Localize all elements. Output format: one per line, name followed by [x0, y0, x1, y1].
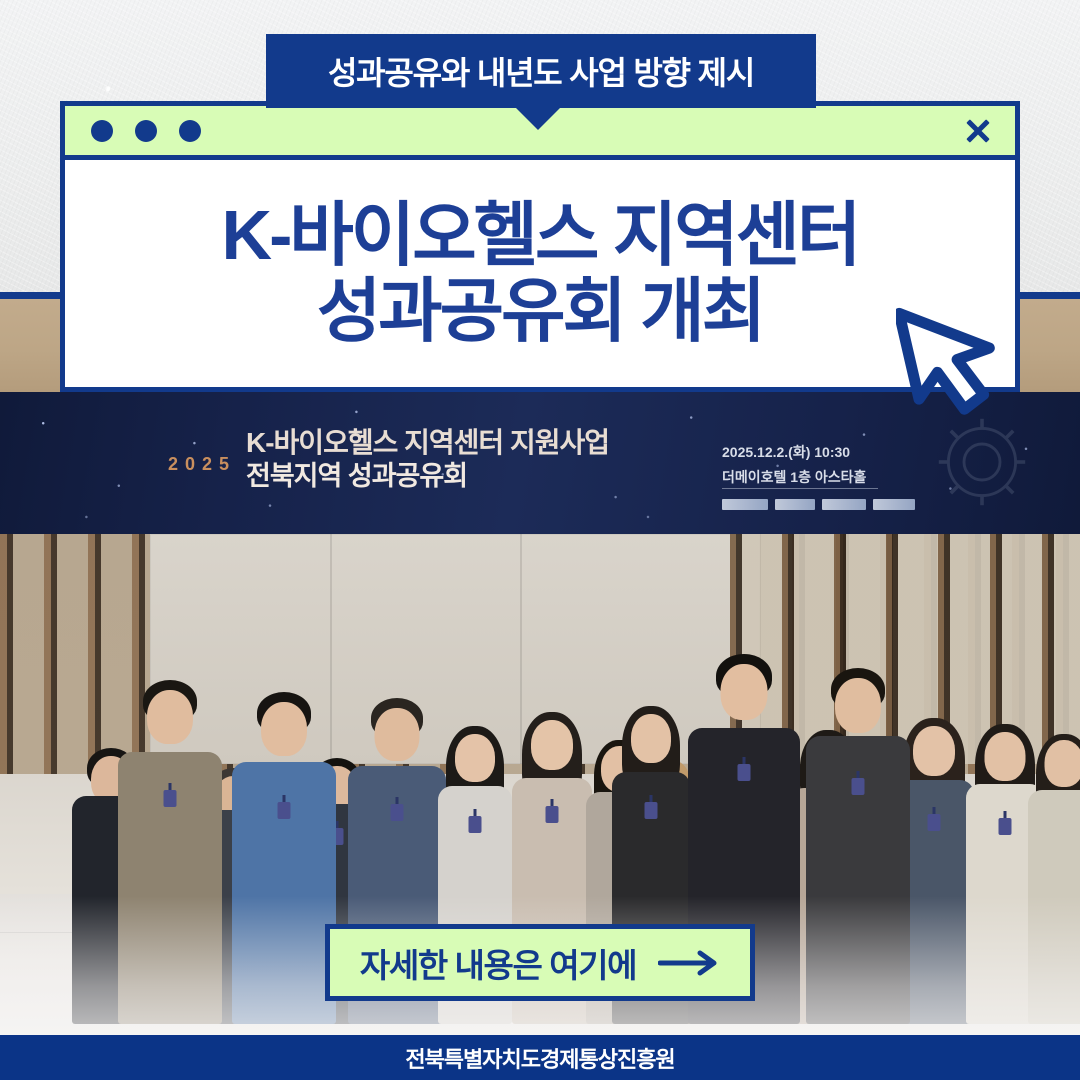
- banner-datetime: 2025.12.2.(화) 10:30: [722, 440, 866, 465]
- cta-label: 자세한 내용은 여기에: [360, 939, 636, 987]
- banner-venue: 더메이호텔 1층 아스타홀: [722, 465, 866, 490]
- sponsor-logo: [822, 499, 866, 510]
- window-dot-icon[interactable]: [91, 120, 113, 142]
- browser-window-card: K-바이오헬스 지역센터 성과공유회 개최: [60, 101, 1020, 392]
- window-content: K-바이오헬스 지역센터 성과공유회 개최: [65, 160, 1015, 392]
- window-traffic-lights: [91, 120, 201, 142]
- headline-line-1: K-바이오헬스 지역센터: [222, 198, 859, 272]
- banner-title-line1: K-바이오헬스 지역센터 지원사업: [246, 426, 609, 460]
- sponsor-logo: [775, 499, 815, 510]
- footer-bar: 전북특별자치도경제통상진흥원: [0, 1035, 1080, 1080]
- ribbon-label: 성과공유와 내년도 사업 방향 제시: [328, 48, 754, 94]
- promo-card-canvas: 2025 K-바이오헬스 지역센터 지원사업 전북지역 성과공유회 2025.1…: [0, 0, 1080, 1080]
- banner-divider: [722, 488, 878, 489]
- sponsor-logo: [873, 499, 915, 510]
- footer-organization-name: 전북특별자치도경제통상진흥원: [405, 1042, 674, 1074]
- window-dot-icon[interactable]: [179, 120, 201, 142]
- banner-sponsor-logos: [722, 496, 918, 512]
- ribbon-pointer-triangle: [516, 108, 560, 130]
- banner-year: 2025: [168, 454, 236, 475]
- top-ribbon-banner: 성과공유와 내년도 사업 방향 제시: [266, 34, 816, 108]
- sponsor-logo: [722, 499, 768, 510]
- close-icon[interactable]: [963, 116, 993, 146]
- banner-title-line2: 전북지역 성과공유회: [246, 460, 609, 493]
- banner-title: K-바이오헬스 지역센터 지원사업 전북지역 성과공유회: [246, 426, 609, 493]
- learn-more-button[interactable]: 자세한 내용은 여기에: [325, 924, 755, 1001]
- window-dot-icon[interactable]: [135, 120, 157, 142]
- headline-line-2: 성과공유회 개최: [317, 274, 763, 348]
- arrow-right-icon: [658, 950, 720, 976]
- banner-meta: 2025.12.2.(화) 10:30 더메이호텔 1층 아스타홀: [722, 440, 866, 489]
- mouse-pointer-icon: [896, 296, 1008, 421]
